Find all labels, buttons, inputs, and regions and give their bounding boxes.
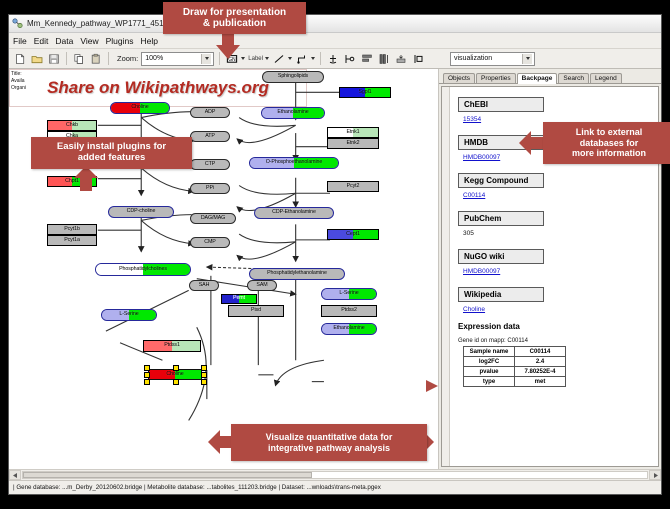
scroll-right-arrow-icon[interactable] xyxy=(649,470,661,480)
metabolite-phosphatidylethanolamine[interactable]: Phosphatidylethanolamine xyxy=(249,268,345,280)
metabolite-ethanolamine-top[interactable]: Ethanolamine xyxy=(261,107,325,119)
metabolite-cdp-choline[interactable]: CDP-choline xyxy=(108,206,174,218)
gene-ptdss1-label: Ptdss1 xyxy=(164,343,180,348)
visualization-value: visualization xyxy=(454,55,492,62)
gene-chkb-label: Chkb xyxy=(66,123,78,128)
callout-draw-line1: Draw for presentation xyxy=(183,7,286,19)
table-row: Sample name C00114 xyxy=(464,347,566,357)
gene-ptdss2-label: Ptdss2 xyxy=(341,308,357,313)
backpage-scrollbar[interactable] xyxy=(442,87,450,466)
metabolite-l-serine-1-label: L-Serine xyxy=(119,312,138,317)
label-tool-text: Label xyxy=(248,56,263,62)
visualization-combo[interactable]: visualization xyxy=(450,52,535,66)
metabolite-dagmag[interactable]: DAG/MAG xyxy=(190,213,236,224)
expr-val-sample-name: C00114 xyxy=(515,347,566,357)
expression-data-heading: Expression data xyxy=(458,322,650,331)
metabolite-sphingolipids-label: Sphingolipids xyxy=(278,74,308,79)
connector-caret-icon[interactable] xyxy=(311,57,315,60)
db-link-kegg[interactable]: C00114 xyxy=(463,192,650,199)
line-caret-icon[interactable] xyxy=(288,57,292,60)
toolbar-divider-1 xyxy=(66,52,67,65)
gene-etnk1[interactable]: Etnk1 xyxy=(327,127,379,138)
callout-link-line1: Link to external xyxy=(572,127,646,137)
pathvisio-window: Mm_Kennedy_pathway_WP1771_45176.gpml Fil… xyxy=(8,14,662,495)
paste-icon[interactable] xyxy=(89,52,103,66)
table-row: log2FC 2.4 xyxy=(464,357,566,367)
menu-plugins[interactable]: Plugins xyxy=(106,36,134,46)
expression-pointer-arrow-icon xyxy=(426,378,438,394)
expr-val-pvalue: 7.80252E-4 xyxy=(515,367,566,377)
metabolite-cdp-ethanolamine[interactable]: CDP-Ethanolamine xyxy=(254,207,334,219)
selection-handle-nw[interactable] xyxy=(144,365,150,371)
label-caret-icon[interactable] xyxy=(265,57,269,60)
expr-key-sample-name: Sample name xyxy=(464,347,515,357)
toolbar: Zoom: 100% GN Label xyxy=(9,49,661,69)
metabolite-l-serine-2[interactable]: L-Serine xyxy=(321,288,377,300)
menu-data[interactable]: Data xyxy=(55,36,73,46)
gene-pcyt2[interactable]: Pcyt2 xyxy=(327,181,379,192)
metabolite-ethanolamine-bottom[interactable]: Ethanolamine xyxy=(321,323,377,335)
metabolite-sam-label: SAM xyxy=(256,283,267,288)
menu-bar: File Edit Data View Plugins Help xyxy=(9,33,661,49)
pathway-drawing[interactable]: Title: Availa Organi xyxy=(9,69,438,469)
db-value-pubchem: 305 xyxy=(463,230,650,237)
menu-help[interactable]: Help xyxy=(141,36,158,46)
callout-link-line2: databases for xyxy=(572,138,646,148)
side-panel-tabs: Objects Properties Backpage Search Legen… xyxy=(439,69,661,84)
expr-key-log2fc: log2FC xyxy=(464,357,515,367)
callout-draw: Draw for presentation & publication xyxy=(163,2,306,34)
gene-pemt-label: Pemt xyxy=(233,296,245,301)
canvas-horizontal-scrollbar[interactable] xyxy=(9,469,661,480)
menu-file[interactable]: File xyxy=(13,36,27,46)
callout-draw-line2: & publication xyxy=(183,18,286,30)
metabolite-phosphatidylcholines[interactable]: Phosphatidylcholines xyxy=(95,263,191,276)
metabolite-choline-top[interactable]: Choline xyxy=(110,102,170,114)
metabolite-ctp[interactable]: CTP xyxy=(190,159,230,170)
pathway-canvas[interactable]: Title: Availa Organi xyxy=(9,69,439,469)
callout-plugins: Easily install plugins for added feature… xyxy=(31,137,192,169)
metabolite-cmp[interactable]: CMP xyxy=(190,237,230,248)
bracket-icon[interactable] xyxy=(343,52,357,66)
tab-legend[interactable]: Legend xyxy=(590,73,622,84)
pathvisio-icon xyxy=(12,18,23,29)
anchor-icon[interactable] xyxy=(326,52,340,66)
metabolite-cdp-choline-label: CDP-choline xyxy=(127,209,156,214)
gene-etnk2-label: Etnk2 xyxy=(346,141,359,146)
gene-chkb[interactable]: Chkb xyxy=(47,120,97,131)
metabolite-sphingolipids[interactable]: Sphingolipids xyxy=(262,71,324,83)
gene-ptdss1[interactable]: Ptdss1 xyxy=(143,340,201,352)
expression-table: Sample name C00114 log2FC 2.4 pvalue 7.8… xyxy=(463,346,566,387)
stack-icon[interactable] xyxy=(394,52,408,66)
db-section-wikipedia-title: Wikipedia xyxy=(458,287,544,302)
gene-etnk1-label: Etnk1 xyxy=(346,130,359,135)
gene-ptdss2[interactable]: Ptdss2 xyxy=(321,305,377,317)
table-row: type met xyxy=(464,377,566,387)
status-text: | Gene database: ...m_Derby_20120602.bri… xyxy=(13,484,381,491)
expr-val-log2fc: 2.4 xyxy=(515,357,566,367)
metabolite-cdp-ethanolamine-label: CDP-Ethanolamine xyxy=(272,210,316,215)
expr-key-pvalue: pvalue xyxy=(464,367,515,377)
db-section-chebi-title: ChEBI xyxy=(458,97,544,112)
callout-visualize-line1: Visualize quantitative data for xyxy=(266,432,393,442)
status-bar: | Gene database: ...m_Derby_20120602.bri… xyxy=(9,480,661,494)
db-section-pubchem-title: PubChem xyxy=(458,211,544,226)
metabolite-ethanolamine-top-label: Ethanolamine xyxy=(277,110,308,115)
selection-handle-sw[interactable] xyxy=(144,379,150,385)
gene-etnk2[interactable]: Etnk2 xyxy=(327,138,379,149)
expr-val-type: met xyxy=(515,377,566,387)
expr-key-type: type xyxy=(464,377,515,387)
gene-pcyt2-label: Pcyt2 xyxy=(347,184,360,189)
gene-pisd-label: Pisd xyxy=(251,308,261,313)
callout-link-arrow-icon xyxy=(518,130,546,156)
title-bar: Mm_Kennedy_pathway_WP1771_45176.gpml xyxy=(9,15,661,33)
tab-properties[interactable]: Properties xyxy=(476,73,516,84)
metabolite-o-phosphoethanolamine-label: O-Phosphoethanolamine xyxy=(266,160,323,165)
selection-handle-ne[interactable] xyxy=(201,365,207,371)
metabolite-choline-selected-group[interactable]: Choline xyxy=(143,365,207,383)
toolbar-divider-2 xyxy=(108,52,109,65)
callout-plugins-line2: added features xyxy=(57,153,166,164)
callout-link: Link to external databases for more info… xyxy=(543,122,670,164)
metabolite-ppi[interactable]: PPi xyxy=(190,183,230,194)
callout-link-line3: more information xyxy=(572,148,646,158)
open-folder-icon[interactable] xyxy=(30,52,44,66)
metabolite-l-serine-1[interactable]: L-Serine xyxy=(101,309,157,321)
callout-visualize-left-arrow-icon xyxy=(207,429,233,455)
metabolite-ppi-label: PPi xyxy=(206,186,214,191)
gene-pcyt1a-label: Pcyt1a xyxy=(64,238,80,243)
metabolite-sah-label: SAH xyxy=(199,283,210,288)
tab-backpage[interactable]: Backpage xyxy=(517,73,558,85)
menu-edit[interactable]: Edit xyxy=(34,36,49,46)
save-icon[interactable] xyxy=(47,52,61,66)
group-icon[interactable] xyxy=(411,52,425,66)
gene-cept1-label: Cept1 xyxy=(346,232,360,237)
gene-pemt[interactable]: Pemt xyxy=(221,294,257,304)
metabolite-cmp-label: CMP xyxy=(204,240,215,245)
db-link-nugo[interactable]: HMDB00097 xyxy=(463,268,650,275)
label-tool[interactable]: Label xyxy=(248,56,269,62)
connector-tool[interactable] xyxy=(295,52,315,66)
zoom-combo[interactable]: 100% xyxy=(141,52,214,66)
metabolite-ctp-label: CTP xyxy=(205,162,215,167)
metabolite-dagmag-label: DAG/MAG xyxy=(201,216,225,221)
zoom-label: Zoom: xyxy=(117,54,138,63)
metabolite-adp-label: ADP xyxy=(205,110,216,115)
db-section-kegg-title: Kegg Compound xyxy=(458,173,544,188)
tab-search[interactable]: Search xyxy=(558,73,589,84)
callout-draw-arrow-icon xyxy=(214,32,242,60)
callout-visualize: Visualize quantitative data for integrat… xyxy=(231,424,427,461)
copy-icon[interactable] xyxy=(72,52,86,66)
metabolite-choline-top-label: Choline xyxy=(131,105,148,110)
zoom-combo-arrow[interactable] xyxy=(201,54,211,64)
table-row: pvalue 7.80252E-4 xyxy=(464,367,566,377)
metabolite-phosphatidylcholines-label: Phosphatidylcholines xyxy=(119,267,167,272)
metabolite-o-phosphoethanolamine[interactable]: O-Phosphoethanolamine xyxy=(249,157,339,169)
new-file-icon[interactable] xyxy=(13,52,27,66)
line-icon[interactable] xyxy=(272,52,286,66)
metabolite-choline-selected-label: Choline xyxy=(166,372,183,377)
gene-pcyt1a[interactable]: Pcyt1a xyxy=(47,235,97,246)
metabolite-atp[interactable]: ATP xyxy=(190,131,230,142)
zoom-value: 100% xyxy=(145,55,163,62)
gene-sgpl1-label: Sgpl1 xyxy=(358,90,371,95)
selection-handle-n[interactable] xyxy=(173,365,179,371)
menu-view[interactable]: View xyxy=(80,36,98,46)
gene-cept1[interactable]: Cept1 xyxy=(327,229,379,240)
metabolite-ethanolamine-bottom-label: Ethanolamine xyxy=(333,326,364,331)
selection-handle-se[interactable] xyxy=(201,379,207,385)
selection-handle-w[interactable] xyxy=(144,372,150,378)
metabolite-sah[interactable]: SAH xyxy=(189,280,219,291)
metabolite-sam[interactable]: SAM xyxy=(247,280,277,291)
metabolite-adp[interactable]: ADP xyxy=(190,107,230,118)
db-section-nugo-title: NuGO wiki xyxy=(458,249,544,264)
connector-icon[interactable] xyxy=(295,52,309,66)
align-icon[interactable] xyxy=(360,52,374,66)
callout-visualize-line2: integrative pathway analysis xyxy=(266,443,393,453)
expression-gene-id: Gene id on mapp: C00114 xyxy=(458,338,650,344)
gene-sgpl1[interactable]: Sgpl1 xyxy=(339,87,391,98)
metabolite-phosphatidylethanolamine-label: Phosphatidylethanolamine xyxy=(267,271,327,276)
scroll-left-arrow-icon[interactable] xyxy=(9,470,21,480)
scroll-track[interactable] xyxy=(22,471,648,479)
toolbar-divider-4 xyxy=(320,52,321,65)
tab-objects[interactable]: Objects xyxy=(443,73,475,84)
selection-handle-e[interactable] xyxy=(201,372,207,378)
selection-handle-s[interactable] xyxy=(173,379,179,385)
line-tool[interactable] xyxy=(272,52,292,66)
visualization-combo-arrow[interactable] xyxy=(522,54,532,64)
gene-pcyt1b[interactable]: Pcyt1b xyxy=(47,224,97,235)
gene-pisd[interactable]: Pisd xyxy=(228,305,284,317)
distribute-icon[interactable] xyxy=(377,52,391,66)
gene-pcyt1b-label: Pcyt1b xyxy=(64,227,80,232)
scroll-thumb[interactable] xyxy=(23,472,312,478)
db-link-wikipedia[interactable]: Choline xyxy=(463,306,650,313)
metabolite-l-serine-2-label: L-Serine xyxy=(339,291,358,296)
metabolite-atp-label: ATP xyxy=(205,134,215,139)
